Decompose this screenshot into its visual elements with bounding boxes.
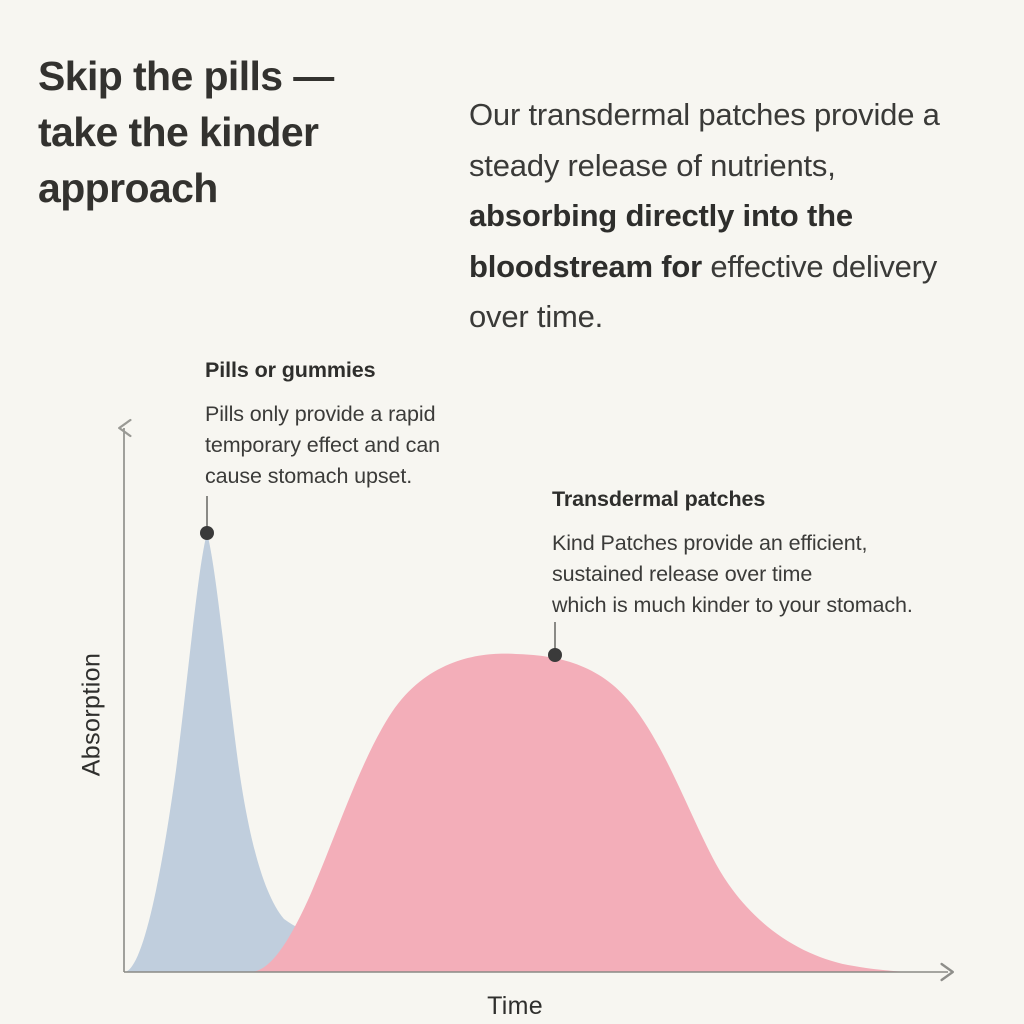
curve-area-patches — [250, 654, 926, 972]
y-axis-label: Absorption — [78, 620, 107, 810]
poster-canvas: Skip the pills — take the kinder approac… — [0, 0, 1024, 1024]
callout-pills-title: Pills or gummies — [205, 358, 505, 383]
callout-patches-body: Kind Patches provide an efficient, susta… — [552, 528, 992, 621]
callout-pills-or-gummies: Pills or gummies Pills only provide a ra… — [205, 358, 505, 492]
callout-transdermal-patches: Transdermal patches Kind Patches provide… — [552, 487, 992, 621]
x-axis-label: Time — [440, 992, 590, 1021]
peak-marker-patches — [548, 648, 562, 662]
callout-patches-title: Transdermal patches — [552, 487, 992, 512]
callout-pills-body: Pills only provide a rapid temporary eff… — [205, 399, 505, 492]
peak-marker-pills — [200, 526, 214, 540]
